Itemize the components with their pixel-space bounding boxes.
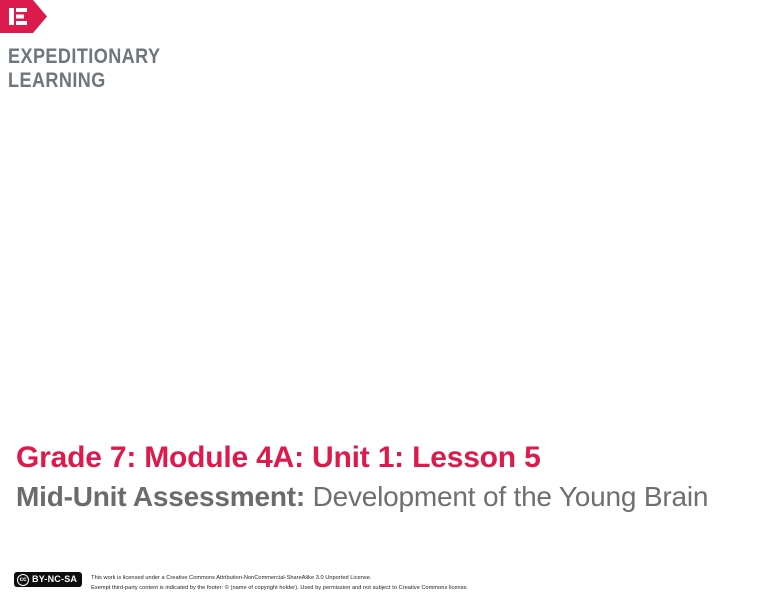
- license-line-2: Exempt third-party content is indicated …: [91, 583, 468, 593]
- brand-wordmark: EXPEDITIONARY LEARNING: [8, 45, 259, 94]
- page-subtitle: Mid-Unit Assessment: Development of the …: [16, 480, 756, 514]
- license-footer: cc BY-NC-SA This work is licensed under …: [14, 572, 468, 593]
- title-block: Grade 7: Module 4A: Unit 1: Lesson 5 Mid…: [16, 440, 756, 514]
- license-line-1: This work is licensed under a Creative C…: [91, 573, 468, 583]
- page-subtitle-rest: Development of the Young Brain: [305, 481, 708, 512]
- license-text: This work is licensed under a Creative C…: [91, 572, 468, 593]
- page-subtitle-lead: Mid-Unit Assessment:: [16, 481, 305, 512]
- license-badge-label: BY-NC-SA: [32, 574, 77, 585]
- slide-page: EXPEDITIONARY LEARNING Grade 7: Module 4…: [0, 0, 769, 600]
- creative-commons-icon: cc: [17, 574, 29, 586]
- brand-block: EXPEDITIONARY LEARNING: [0, 0, 300, 94]
- page-title: Grade 7: Module 4A: Unit 1: Lesson 5: [16, 440, 756, 476]
- expeditionary-learning-logo-icon: [0, 0, 48, 33]
- creative-commons-badge[interactable]: cc BY-NC-SA: [14, 572, 82, 587]
